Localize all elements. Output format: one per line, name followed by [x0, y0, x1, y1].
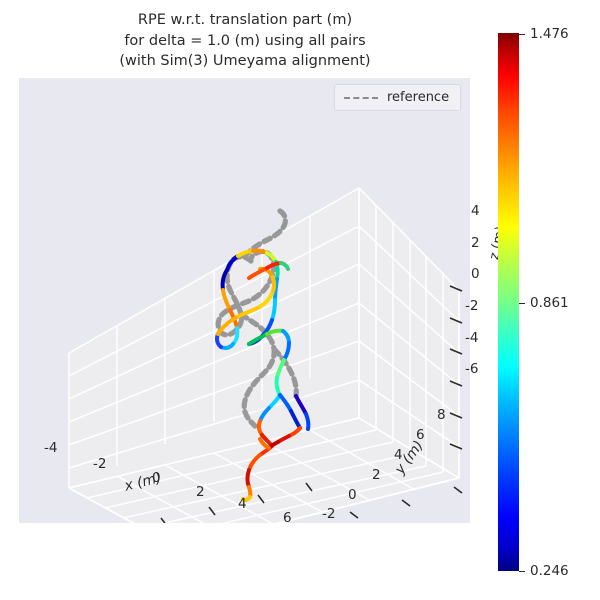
y-tick-label: 6 [416, 427, 425, 443]
x-tick-label: 0 [152, 470, 161, 486]
colorbar-tick-min: 0.246 [519, 563, 569, 579]
legend-label-reference: reference [387, 90, 449, 105]
x-tick-label: 2 [196, 484, 205, 500]
y-tick-label: 0 [348, 487, 357, 503]
z-tick-label: -4 [465, 330, 478, 346]
z-tick-label: -6 [465, 361, 478, 377]
legend-dash-icon [344, 97, 378, 99]
colorbar-gradient[interactable] [498, 33, 519, 571]
y-tick-label: 2 [372, 467, 381, 483]
figure-canvas: RPE w.r.t. translation part (m) for delt… [0, 0, 600, 600]
y-tick-label: 8 [437, 407, 446, 423]
figure-title: RPE w.r.t. translation part (m) for delt… [0, 10, 490, 72]
x-tick-label: 6 [283, 510, 292, 526]
z-tick-label: 0 [471, 266, 480, 282]
legend-box[interactable]: reference [334, 84, 461, 111]
y-tick-label: -2 [322, 506, 335, 522]
x-tick-label: -4 [44, 440, 57, 456]
y-tick-label: 4 [394, 447, 403, 463]
x-tick-label: 4 [238, 496, 247, 512]
x-tick-label: -2 [93, 456, 106, 472]
z-tick-label: 4 [471, 203, 480, 219]
colorbar-tick-max: 1.476 [519, 26, 569, 42]
z-tick-label: 2 [471, 235, 480, 251]
z-tick-label: -2 [465, 298, 478, 314]
colorbar-tick-mid: 0.861 [519, 295, 569, 311]
